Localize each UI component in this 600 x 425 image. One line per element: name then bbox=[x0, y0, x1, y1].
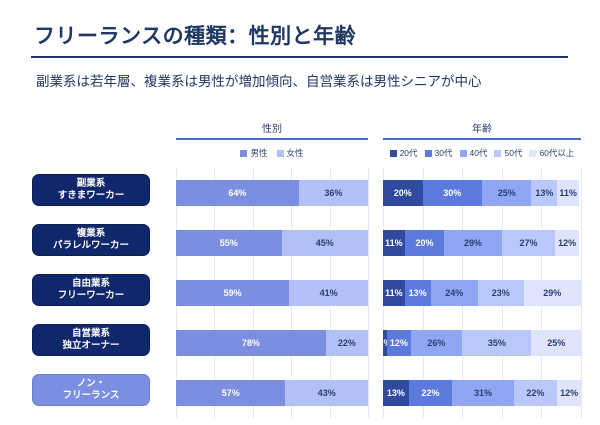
age-bar-segment[interactable]: 13% bbox=[531, 180, 557, 206]
age-bar-segment[interactable]: 29% bbox=[524, 280, 581, 306]
row-label-pill[interactable]: 複業系パラレルワーカー bbox=[32, 224, 150, 256]
age-legend-item[interactable]: 60代以上 bbox=[529, 147, 574, 159]
page-subtitle: 副業系は若年層、複業系は男性が増加傾向、自営業系は男性シニアが中心 bbox=[36, 72, 576, 92]
gridline bbox=[368, 218, 369, 268]
age-bar-segment[interactable]: 22% bbox=[409, 380, 453, 406]
gender-legend-item[interactable]: 男性 bbox=[240, 147, 267, 159]
gender-stacked-bar: 64%36% bbox=[176, 180, 368, 206]
age-legend-item[interactable]: 40代 bbox=[460, 147, 488, 159]
gender-legend-label: 女性 bbox=[287, 147, 304, 159]
legend-swatch-icon bbox=[460, 150, 467, 157]
legend-swatch-icon bbox=[494, 150, 501, 157]
gridline bbox=[368, 368, 369, 418]
age-bar-segment[interactable]: 11% bbox=[383, 230, 405, 256]
age-bar-segment[interactable]: 25% bbox=[482, 180, 532, 206]
age-bar-segment[interactable]: 13% bbox=[405, 280, 431, 306]
row-label-line2: 独立オーナー bbox=[62, 340, 119, 352]
gender-bar-segment[interactable]: 41% bbox=[289, 280, 368, 306]
age-bar-segment[interactable]: 11% bbox=[383, 280, 405, 306]
age-plot-area: 13%22%31%22%12% bbox=[383, 368, 581, 418]
gender-legend-label: 男性 bbox=[250, 147, 267, 159]
gender-bar-segment[interactable]: 36% bbox=[299, 180, 368, 206]
age-stacked-bar: 11%13%24%23%29% bbox=[383, 280, 581, 306]
chart-row: 自由業系フリーワーカー59%41%11%13%24%23%29% bbox=[0, 268, 600, 318]
gridline bbox=[581, 218, 582, 268]
age-stacked-bar: 11%20%29%27%12% bbox=[383, 230, 581, 256]
gender-bar-segment[interactable]: 22% bbox=[326, 330, 368, 356]
age-bar-segment[interactable]: 23% bbox=[478, 280, 524, 306]
gridline bbox=[581, 168, 582, 218]
age-panel-heading-label: 年齢 bbox=[383, 120, 581, 138]
gender-plot-area: 57%43% bbox=[176, 368, 368, 418]
gender-bar-segment[interactable]: 55% bbox=[176, 230, 282, 256]
gridline bbox=[581, 318, 582, 368]
gridline bbox=[581, 368, 582, 418]
legend-swatch-icon bbox=[529, 150, 536, 157]
row-label-line1: 複業系 bbox=[77, 228, 106, 240]
age-legend-label: 40代 bbox=[470, 147, 488, 159]
age-bar-segment[interactable]: 12% bbox=[557, 380, 581, 406]
age-legend-label: 60代以上 bbox=[539, 147, 574, 159]
age-legend-item[interactable]: 30代 bbox=[425, 147, 453, 159]
age-bar-segment[interactable]: 11% bbox=[557, 180, 579, 206]
age-stacked-bar: 20%30%25%13%11% bbox=[383, 180, 581, 206]
age-bar-segment[interactable]: 30% bbox=[423, 180, 482, 206]
age-plot-area: 2%12%26%35%25% bbox=[383, 318, 581, 368]
chart-row: 複業系パラレルワーカー55%45%11%20%29%27%12% bbox=[0, 218, 600, 268]
gender-panel-heading-label: 性別 bbox=[176, 120, 368, 138]
gridline bbox=[368, 168, 369, 218]
age-bar-segment[interactable]: 24% bbox=[431, 280, 479, 306]
age-bar-segment[interactable]: 26% bbox=[411, 330, 462, 356]
gender-legend: 男性女性 bbox=[176, 147, 368, 159]
gender-panel-heading: 性別 bbox=[176, 120, 368, 140]
age-legend-item[interactable]: 20代 bbox=[390, 147, 418, 159]
chart-area: 副業系すきまワーカー64%36%20%30%25%13%11%複業系パラレルワー… bbox=[0, 168, 600, 418]
gender-bar-segment[interactable]: 57% bbox=[176, 380, 285, 406]
age-stacked-bar: 13%22%31%22%12% bbox=[383, 380, 581, 406]
gender-stacked-bar: 59%41% bbox=[176, 280, 368, 306]
row-label-line1: 自由業系 bbox=[72, 278, 110, 290]
gender-legend-item[interactable]: 女性 bbox=[277, 147, 304, 159]
age-panel-heading: 年齢 bbox=[383, 120, 581, 140]
row-label-pill[interactable]: 自由業系フリーワーカー bbox=[32, 274, 150, 306]
gender-bar-segment[interactable]: 45% bbox=[282, 230, 368, 256]
age-plot-area: 11%20%29%27%12% bbox=[383, 218, 581, 268]
row-label-line2: パラレルワーカー bbox=[53, 240, 129, 252]
age-panel-divider bbox=[383, 138, 581, 140]
row-label-line1: 自営業系 bbox=[72, 328, 110, 340]
gender-plot-area: 55%45% bbox=[176, 218, 368, 268]
age-bar-segment[interactable]: 20% bbox=[405, 230, 445, 256]
age-bar-segment[interactable]: 27% bbox=[502, 230, 555, 256]
row-label-line1: ノン・ bbox=[77, 378, 106, 390]
age-legend: 20代30代40代50代60代以上 bbox=[383, 147, 581, 159]
row-label-pill[interactable]: 副業系すきまワーカー bbox=[32, 174, 150, 206]
gender-bar-segment[interactable]: 78% bbox=[176, 330, 326, 356]
gender-panel-divider bbox=[176, 138, 368, 140]
gender-bar-segment[interactable]: 43% bbox=[285, 380, 368, 406]
age-bar-segment[interactable]: 13% bbox=[383, 380, 409, 406]
gender-bar-segment[interactable]: 59% bbox=[176, 280, 289, 306]
age-legend-label: 30代 bbox=[435, 147, 453, 159]
row-label-pill[interactable]: 自営業系独立オーナー bbox=[32, 324, 150, 356]
age-legend-label: 20代 bbox=[400, 147, 418, 159]
chart-row: ノン・フリーランス57%43%13%22%31%22%12% bbox=[0, 368, 600, 418]
row-label-line1: 副業系 bbox=[77, 178, 106, 190]
legend-swatch-icon bbox=[390, 150, 397, 157]
age-bar-segment[interactable]: 12% bbox=[555, 230, 579, 256]
chart-row: 副業系すきまワーカー64%36%20%30%25%13%11% bbox=[0, 168, 600, 218]
age-bar-segment[interactable]: 35% bbox=[462, 330, 531, 356]
age-bar-segment[interactable]: 25% bbox=[531, 330, 581, 356]
gridline bbox=[368, 268, 369, 318]
age-bar-segment[interactable]: 31% bbox=[452, 380, 513, 406]
row-label-pill[interactable]: ノン・フリーランス bbox=[32, 374, 150, 406]
age-bar-segment[interactable]: 12% bbox=[387, 330, 411, 356]
gender-stacked-bar: 78%22% bbox=[176, 330, 368, 356]
row-label-line2: フリーワーカー bbox=[58, 290, 125, 302]
page-title: フリーランスの種類：性別と年齢 bbox=[34, 20, 356, 50]
age-bar-segment[interactable]: 22% bbox=[514, 380, 558, 406]
title-divider bbox=[31, 56, 568, 58]
gridline bbox=[581, 268, 582, 318]
gridline bbox=[368, 318, 369, 368]
age-plot-area: 11%13%24%23%29% bbox=[383, 268, 581, 318]
age-bar-segment[interactable]: 20% bbox=[383, 180, 423, 206]
gender-stacked-bar: 57%43% bbox=[176, 380, 368, 406]
age-bar-segment[interactable]: 29% bbox=[444, 230, 501, 256]
legend-swatch-icon bbox=[277, 150, 284, 157]
gender-plot-area: 64%36% bbox=[176, 168, 368, 218]
legend-swatch-icon bbox=[240, 150, 247, 157]
gender-plot-area: 59%41% bbox=[176, 268, 368, 318]
gender-plot-area: 78%22% bbox=[176, 318, 368, 368]
gender-bar-segment[interactable]: 64% bbox=[176, 180, 299, 206]
age-legend-item[interactable]: 50代 bbox=[494, 147, 522, 159]
age-stacked-bar: 2%12%26%35%25% bbox=[383, 330, 581, 356]
age-legend-label: 50代 bbox=[504, 147, 522, 159]
gender-stacked-bar: 55%45% bbox=[176, 230, 368, 256]
row-label-line2: フリーランス bbox=[63, 390, 120, 402]
chart-row: 自営業系独立オーナー78%22%2%12%26%35%25% bbox=[0, 318, 600, 368]
legend-swatch-icon bbox=[425, 150, 432, 157]
age-plot-area: 20%30%25%13%11% bbox=[383, 168, 581, 218]
row-label-line2: すきまワーカー bbox=[58, 190, 125, 202]
